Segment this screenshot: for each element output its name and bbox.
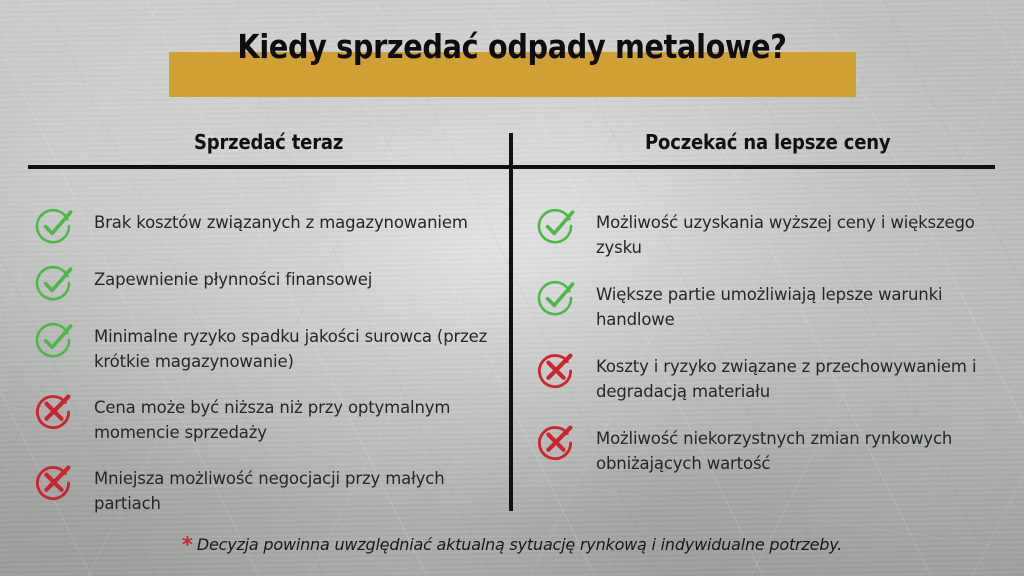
list-item: Cena może być niższa niż przy optymalnym… (34, 390, 502, 445)
cross-circle-icon (536, 350, 576, 390)
cross-circle-icon (34, 462, 74, 502)
list-item-text: Zapewnienie płynności finansowej (94, 262, 372, 292)
list-item: Większe partie umożliwiają lepsze warunk… (536, 277, 1014, 332)
list-item: Zapewnienie płynności finansowej (34, 262, 502, 303)
list-item: Brak kosztów związanych z magazynowaniem (34, 205, 502, 246)
list-item: Możliwość niekorzystnych zmian rynkowych… (536, 421, 1014, 476)
column-header-sell-now: Sprzedać teraz (194, 130, 343, 154)
footnote-text: Decyzja powinna uwzględniać aktualną syt… (197, 535, 842, 554)
list-item: Minimalne ryzyko spadku jakości surowca … (34, 319, 502, 374)
check-circle-icon (34, 263, 74, 303)
column-wait-for-better-prices: Możliwość uzyskania wyższej ceny i więks… (536, 205, 1014, 493)
cross-circle-icon (34, 391, 74, 431)
list-item-text: Minimalne ryzyko spadku jakości surowca … (94, 319, 502, 374)
footnote: *Decyzja powinna uwzględniać aktualną sy… (0, 533, 1024, 557)
list-item: Mniejsza możliwość negocjacji przy małyc… (34, 461, 502, 516)
check-circle-icon (34, 206, 74, 246)
column-divider-vertical (509, 133, 513, 511)
column-header-wait: Poczekać na lepsze ceny (645, 130, 890, 154)
column-sell-now: Brak kosztów związanych z magazynowaniem… (34, 205, 502, 532)
list-item-text: Mniejsza możliwość negocjacji przy małyc… (94, 461, 502, 516)
list-item: Możliwość uzyskania wyższej ceny i więks… (536, 205, 1014, 260)
footnote-asterisk: * (182, 533, 193, 557)
check-circle-icon (536, 206, 576, 246)
cross-circle-icon (536, 422, 576, 462)
list-item: Koszty i ryzyko związane z przechowywani… (536, 349, 1014, 404)
slide-canvas: Kiedy sprzedać odpady metalowe? Sprzedać… (0, 0, 1024, 576)
list-item-text: Możliwość niekorzystnych zmian rynkowych… (596, 421, 1014, 476)
list-item-text: Możliwość uzyskania wyższej ceny i więks… (596, 205, 1014, 260)
list-item-text: Koszty i ryzyko związane z przechowywani… (596, 349, 1014, 404)
list-item-text: Cena może być niższa niż przy optymalnym… (94, 390, 502, 445)
list-item-text: Większe partie umożliwiają lepsze warunk… (596, 277, 1014, 332)
list-item-text: Brak kosztów związanych z magazynowaniem (94, 205, 468, 235)
slide-content: Kiedy sprzedać odpady metalowe? Sprzedać… (0, 0, 1024, 576)
page-title: Kiedy sprzedać odpady metalowe? (67, 27, 958, 66)
check-circle-icon (536, 278, 576, 318)
check-circle-icon (34, 320, 74, 360)
